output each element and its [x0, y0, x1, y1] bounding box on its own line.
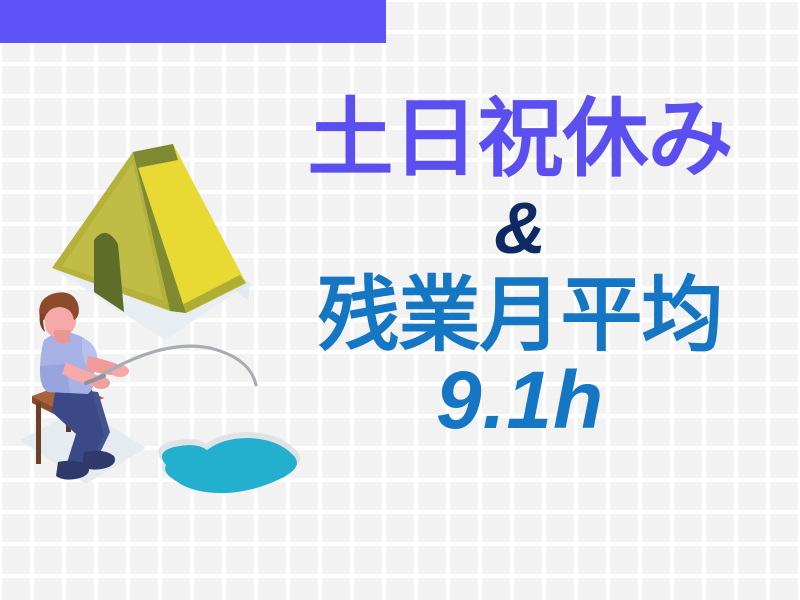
stool-leg-left [36, 402, 41, 464]
stool-seat [32, 382, 104, 413]
poster-canvas: 土日祝休み & 残業月平均 9.1h [0, 0, 800, 600]
angler-ground-shadow [20, 408, 146, 484]
headline-block: 土日祝休み & 残業月平均 9.1h [250, 96, 790, 444]
tent-main-panel-2 [133, 144, 246, 313]
angler-shoe-near [56, 461, 89, 480]
tent-front-panel [133, 144, 186, 313]
fishing-rod-tip [86, 376, 104, 383]
fishing-rod [92, 346, 256, 385]
angler-shirt [40, 332, 94, 394]
tent-ridge-edge [133, 144, 178, 168]
angler-leg-far [62, 388, 110, 463]
stool-leg-right [95, 398, 100, 456]
angler-leg-near [52, 384, 104, 470]
angler-arm-far [86, 356, 122, 376]
tent-side-panel-shade [62, 163, 163, 300]
angler-hand-lower [92, 377, 110, 389]
headline-line-2: 残業月平均 [250, 274, 790, 358]
angler-shirt-shade [40, 364, 70, 393]
tent-front-edge [170, 275, 246, 313]
headline-line-1: 土日祝休み [250, 96, 790, 184]
tent-side-panel [52, 152, 170, 311]
angler-sleeve [82, 338, 98, 372]
angler-face [44, 300, 76, 337]
angler-neck [54, 330, 70, 344]
angler-hair-side-icon [40, 314, 45, 332]
angler-arm-near [62, 362, 106, 388]
pond-water [162, 438, 297, 493]
headline-line-3: 9.1h [250, 358, 790, 444]
tent-ground-plane [52, 215, 250, 340]
tent-main-panel [173, 144, 246, 313]
angler-shoe-far [82, 451, 115, 470]
tent-ground-plane-highlight [150, 215, 250, 300]
accent-bar [0, 0, 386, 43]
tent-door-icon [94, 233, 124, 312]
angler-hand-upper [111, 365, 129, 377]
stool-leg-back [66, 390, 71, 432]
stool-seat-side [32, 396, 66, 420]
angler-hair-icon [39, 292, 79, 320]
headline-connector: & [250, 184, 790, 274]
